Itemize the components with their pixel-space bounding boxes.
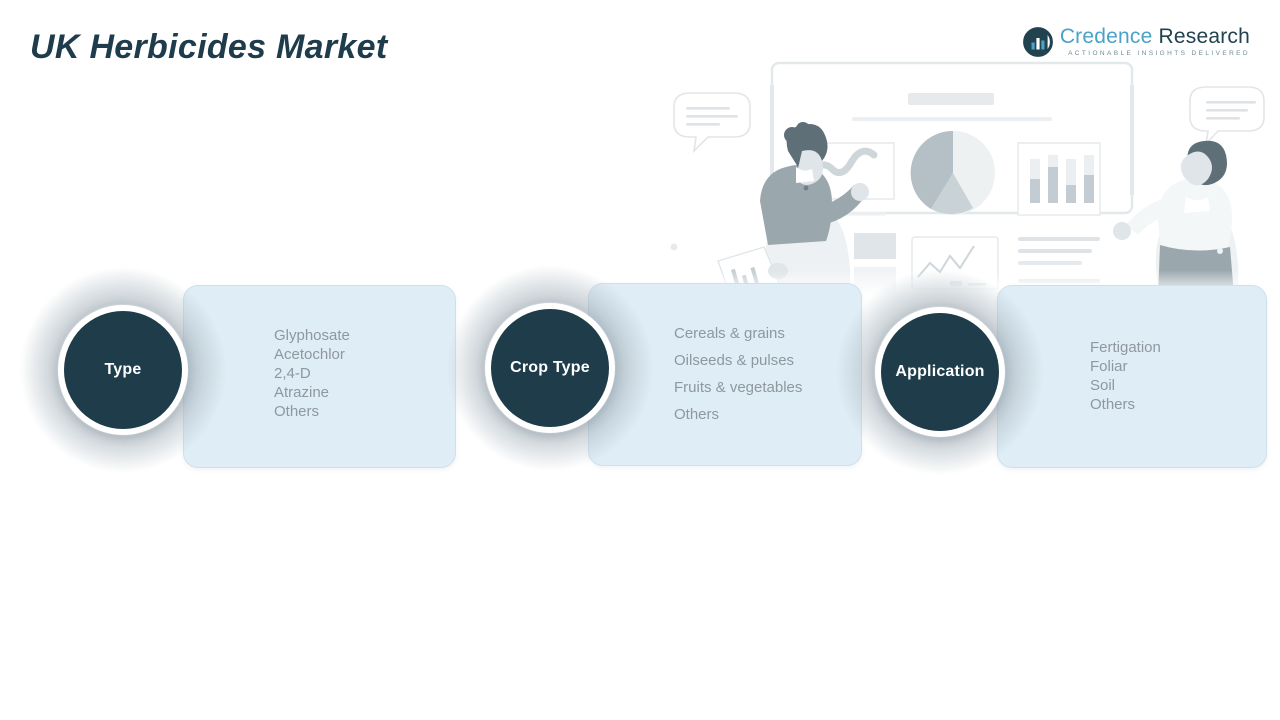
list-item: Soil <box>1090 376 1161 395</box>
bar-chart-circle-icon <box>1023 27 1053 57</box>
list-item: 2,4-D <box>274 364 350 383</box>
logo-name-second: Research <box>1159 25 1250 48</box>
page-title: UK Herbicides Market <box>30 28 387 67</box>
list-item: Glyphosate <box>274 326 350 345</box>
logo-tagline: Actionable Insights Delivered <box>1060 51 1250 58</box>
list-item: Foliar <box>1090 357 1161 376</box>
slide-canvas: UK Herbicides Market Credence Research A… <box>0 0 1280 720</box>
list-item: Fertigation <box>1090 338 1161 357</box>
list-item: Acetochlor <box>274 345 350 364</box>
node-disc: Application <box>881 313 999 431</box>
segment-node-application[interactable]: Application <box>836 268 1044 476</box>
dashboard-illustration <box>660 55 1280 295</box>
brand-logo: Credence Research Actionable Insights De… <box>1023 26 1250 58</box>
segment-items-type: Glyphosate Acetochlor 2,4-D Atrazine Oth… <box>274 326 350 421</box>
list-item: Cereals & grains <box>674 320 802 347</box>
node-disc: Crop Type <box>491 309 609 427</box>
segment-label-crop-type: Crop Type <box>510 359 590 377</box>
segment-label-type: Type <box>105 361 142 379</box>
list-item: Others <box>274 402 350 421</box>
list-item: Others <box>674 401 802 428</box>
list-item: Others <box>1090 395 1161 414</box>
segment-node-crop-type[interactable]: Crop Type <box>446 264 654 472</box>
segment-items-crop-type: Cereals & grains Oilseeds & pulses Fruit… <box>674 320 802 428</box>
logo-name-first: Credence <box>1060 25 1153 48</box>
segment-node-type[interactable]: Type <box>19 266 227 474</box>
list-item: Atrazine <box>274 383 350 402</box>
node-disc: Type <box>64 311 182 429</box>
segment-items-application: Fertigation Foliar Soil Others <box>1090 338 1161 414</box>
list-item: Fruits & vegetables <box>674 374 802 401</box>
list-item: Oilseeds & pulses <box>674 347 802 374</box>
segment-label-application: Application <box>895 363 984 381</box>
